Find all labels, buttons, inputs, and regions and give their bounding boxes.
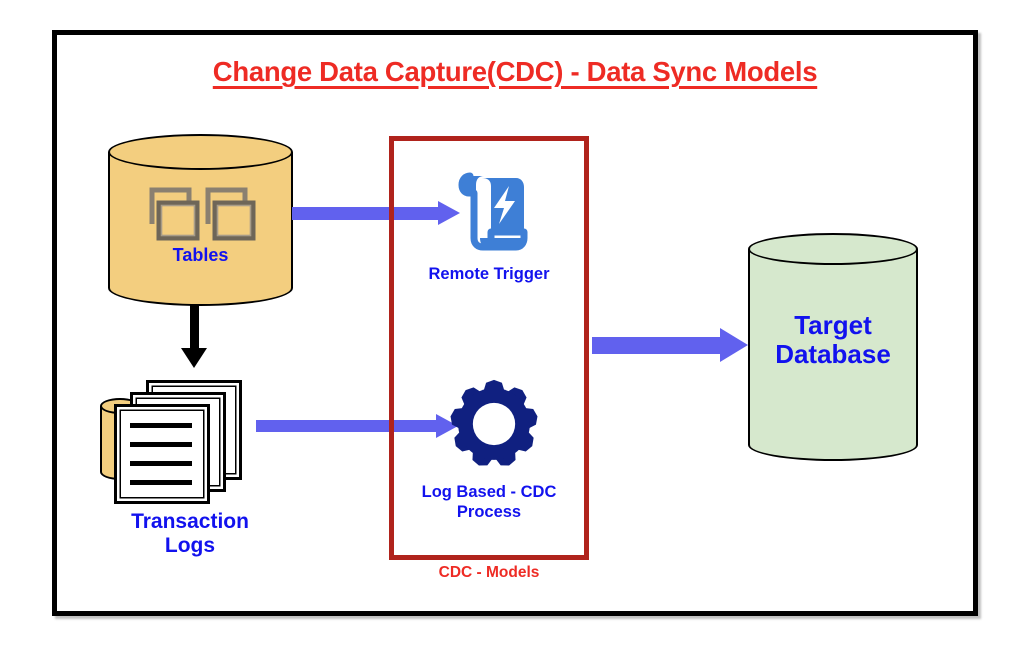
target-database-label-line1: Target (748, 311, 918, 340)
document-line (130, 442, 192, 447)
arrow-shaft (190, 304, 199, 350)
log-based-cdc-label-line2: Process (389, 503, 589, 523)
scroll-lightning-icon (452, 166, 532, 252)
transaction-logs-label-line2: Logs (70, 534, 310, 558)
arrow-head (720, 328, 748, 362)
transaction-logs-label-line1: Transaction (70, 510, 310, 534)
gear-icon (448, 378, 540, 470)
arrow-shaft (592, 337, 722, 354)
target-database-cylinder: Target Database (748, 233, 918, 461)
cdc-models-box-label: CDC - Models (389, 564, 589, 582)
document-line (130, 480, 192, 485)
tables-cylinder: Tables (108, 134, 293, 306)
diagram-canvas: Change Data Capture(CDC) - Data Sync Mod… (0, 0, 1016, 648)
document-line (130, 423, 192, 428)
arrow-head (181, 348, 207, 368)
remote-trigger-label: Remote Trigger (389, 265, 589, 285)
target-database-label: Target Database (748, 311, 918, 369)
diagram-title: Change Data Capture(CDC) - Data Sync Mod… (52, 56, 978, 88)
tables-label: Tables (108, 245, 293, 265)
document-page-front (114, 404, 210, 504)
cylinder-top-ellipse (108, 134, 293, 170)
cylinder-top-ellipse (748, 233, 918, 265)
target-database-label-line2: Database (748, 340, 918, 369)
log-based-cdc-label: Log Based - CDC Process (389, 483, 589, 523)
document-line (130, 461, 192, 466)
two-tables-icon (146, 184, 258, 246)
transaction-logs-label: Transaction Logs (70, 510, 310, 559)
log-based-cdc-label-line1: Log Based - CDC (389, 483, 589, 503)
